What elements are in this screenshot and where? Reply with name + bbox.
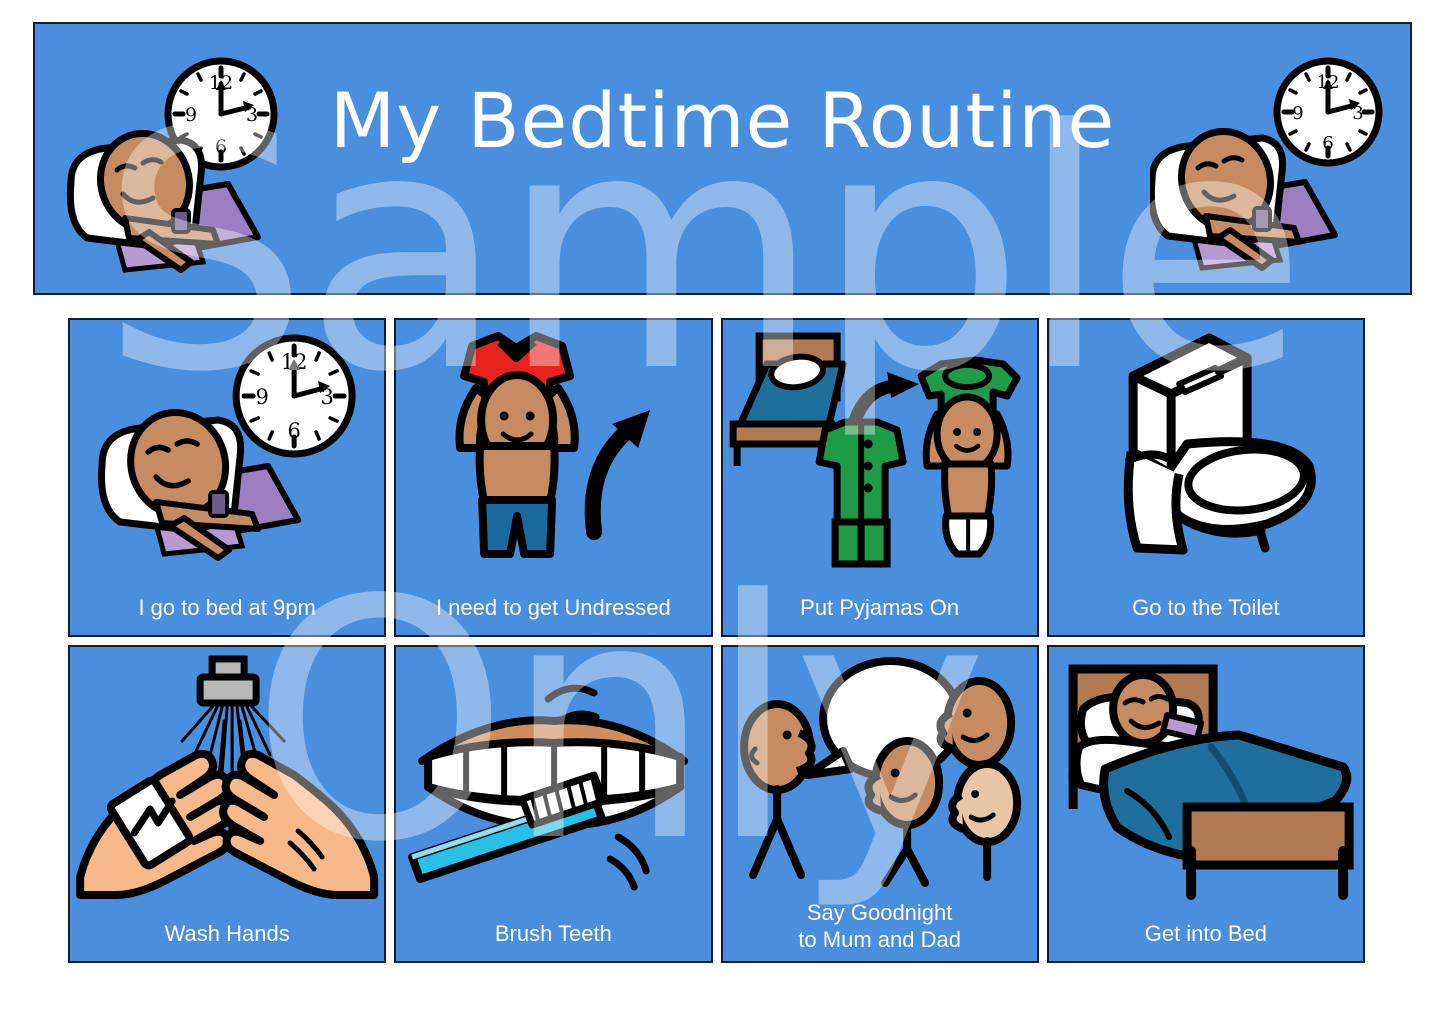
person-removing-shirt-icon	[396, 324, 710, 576]
washing-hands-under-tap-icon	[70, 651, 384, 903]
svg-text:6: 6	[287, 419, 300, 443]
card-label: I need to get Undressed	[396, 594, 710, 621]
routine-card-say-goodnight[interactable]: Say Goodnight to Mum and Dad	[721, 645, 1039, 964]
card-label: Get into Bed	[1049, 920, 1363, 947]
toilet-icon	[1049, 324, 1363, 576]
svg-text:9: 9	[255, 385, 268, 409]
person-in-bed-icon	[1049, 651, 1363, 903]
routine-card-put-pyjamas-on[interactable]: Put Pyjamas On	[721, 318, 1039, 637]
card-label: Go to the Toilet	[1049, 594, 1363, 621]
routine-card-wash-hands[interactable]: Wash Hands	[68, 645, 386, 964]
toothbrush-and-teeth-icon	[396, 651, 710, 903]
card-label: Brush Teeth	[396, 920, 710, 947]
card-label: Put Pyjamas On	[723, 594, 1037, 621]
card-label: I go to bed at 9pm	[70, 594, 384, 621]
routine-card-go-to-bed[interactable]: 12 3 6 9 I go to bed at 9pm	[68, 318, 386, 637]
routine-card-grid: 12 3 6 9 I go to bed at 9pm	[68, 318, 1365, 963]
bedtime-routine-chart: 12 3 6 9	[0, 0, 1445, 1022]
card-label-line2: to Mum and Dad	[727, 926, 1033, 953]
people-talking-speech-bubble-icon	[723, 651, 1037, 903]
page-title: My Bedtime Routine	[35, 76, 1410, 165]
routine-card-get-into-bed[interactable]: Get into Bed	[1047, 645, 1365, 964]
card-label: Wash Hands	[70, 920, 384, 947]
card-label-line1: Say Goodnight	[727, 899, 1033, 926]
header-banner: 12 3 6 9	[33, 22, 1412, 295]
pyjamas-and-bed-icon	[723, 324, 1037, 576]
routine-card-get-undressed[interactable]: I need to get Undressed	[394, 318, 712, 637]
sleeping-person-with-clock-icon: 12 3 6 9	[70, 324, 384, 576]
routine-card-brush-teeth[interactable]: Brush Teeth	[394, 645, 712, 964]
routine-card-go-to-toilet[interactable]: Go to the Toilet	[1047, 318, 1365, 637]
card-label: Say Goodnight to Mum and Dad	[723, 899, 1037, 953]
